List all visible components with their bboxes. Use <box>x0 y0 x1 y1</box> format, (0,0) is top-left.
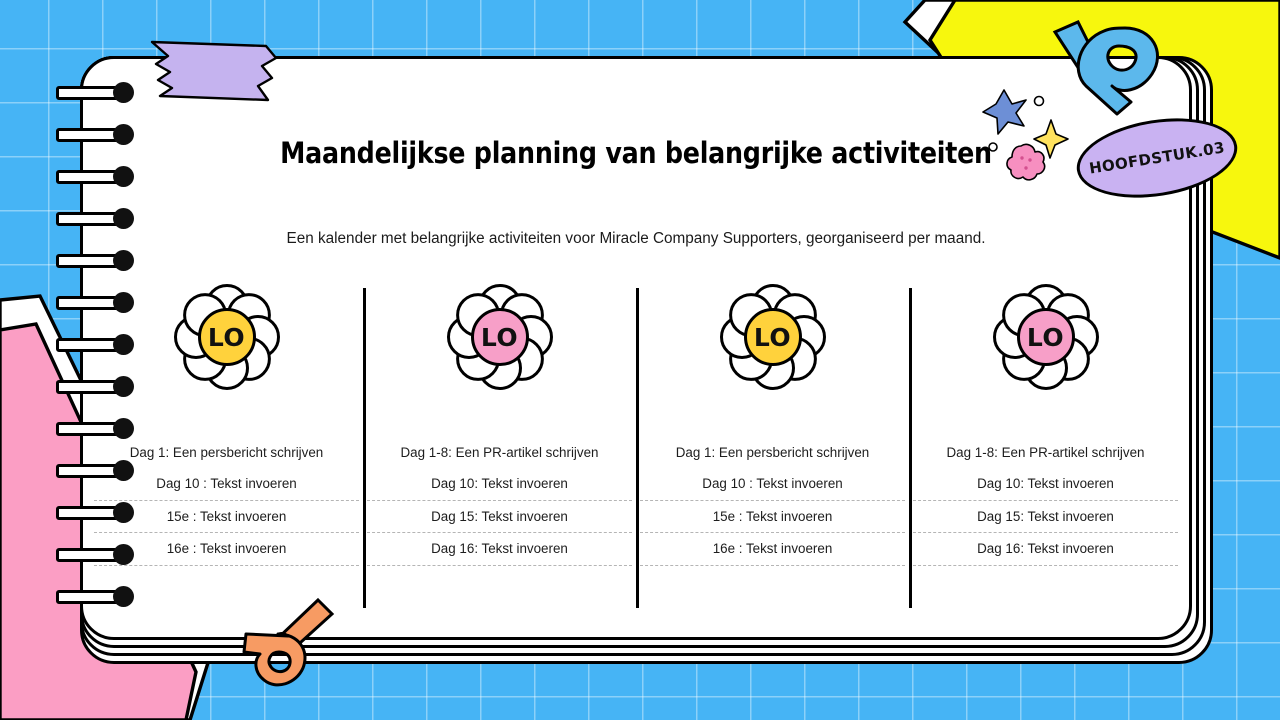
flower-badge[interactable]: LO <box>168 282 286 392</box>
chapter-badge-label: HOOFDSTUK.03 <box>1088 138 1226 177</box>
activity-row[interactable]: Dag 10 : Tekst invoeren <box>640 477 905 500</box>
column-divider <box>363 288 366 608</box>
column-divider <box>636 288 639 608</box>
activity-row[interactable]: Dag 1: Een persbericht schrijven <box>640 446 905 466</box>
flower-badge-label: LO <box>168 282 286 392</box>
activity-row[interactable]: Dag 10: Tekst invoeren <box>913 477 1178 500</box>
flower-badge[interactable]: LO <box>441 282 559 392</box>
activity-row[interactable]: Dag 15: Tekst invoeren <box>367 510 632 533</box>
activity-row[interactable]: Dag 16: Tekst invoeren <box>913 542 1178 565</box>
column-divider <box>909 288 912 608</box>
activity-row[interactable]: Dag 16: Tekst invoeren <box>367 542 632 565</box>
flower-badge-label: LO <box>441 282 559 392</box>
activity-row-list: Dag 1: Een persbericht schrijvenDag 10 :… <box>90 446 363 575</box>
activity-row[interactable]: 15e : Tekst invoeren <box>640 510 905 533</box>
activity-column: LODag 1: Een persbericht schrijvenDag 10… <box>636 282 909 608</box>
page-title: Maandelijkse planning van belangrijke ac… <box>158 136 1114 170</box>
activity-row[interactable]: Dag 1-8: Een PR-artikel schrijven <box>367 446 632 466</box>
activity-row-list: Dag 1-8: Een PR-artikel schrijvenDag 10:… <box>909 446 1182 575</box>
page-content: Maandelijkse planning van belangrijke ac… <box>80 56 1192 640</box>
flower-badge[interactable]: LO <box>987 282 1105 392</box>
activity-column: LODag 1-8: Een PR-artikel schrijvenDag 1… <box>363 282 636 608</box>
activity-row[interactable]: 16e : Tekst invoeren <box>94 542 359 565</box>
activity-row[interactable]: Dag 10 : Tekst invoeren <box>94 477 359 500</box>
activity-row-list: Dag 1: Een persbericht schrijvenDag 10 :… <box>636 446 909 575</box>
activity-row[interactable]: 16e : Tekst invoeren <box>640 542 905 565</box>
activity-row[interactable]: Dag 15: Tekst invoeren <box>913 510 1178 533</box>
flower-badge-label: LO <box>714 282 832 392</box>
activity-row[interactable]: Dag 1-8: Een PR-artikel schrijven <box>913 446 1178 466</box>
activity-column: LODag 1-8: Een PR-artikel schrijvenDag 1… <box>909 282 1182 608</box>
activity-row-list: Dag 1-8: Een PR-artikel schrijvenDag 10:… <box>363 446 636 575</box>
activity-column: LODag 1: Een persbericht schrijvenDag 10… <box>90 282 363 608</box>
activity-row[interactable]: Dag 1: Een persbericht schrijven <box>94 446 359 466</box>
page-subtitle: Een kalender met belangrijke activiteite… <box>80 230 1192 248</box>
activity-row[interactable]: Dag 10: Tekst invoeren <box>367 477 632 500</box>
flower-badge[interactable]: LO <box>714 282 832 392</box>
flower-badge-label: LO <box>987 282 1105 392</box>
activity-row[interactable]: 15e : Tekst invoeren <box>94 510 359 533</box>
notebook: Maandelijkse planning van belangrijke ac… <box>0 0 1280 720</box>
activity-columns: LODag 1: Een persbericht schrijvenDag 10… <box>90 282 1182 608</box>
